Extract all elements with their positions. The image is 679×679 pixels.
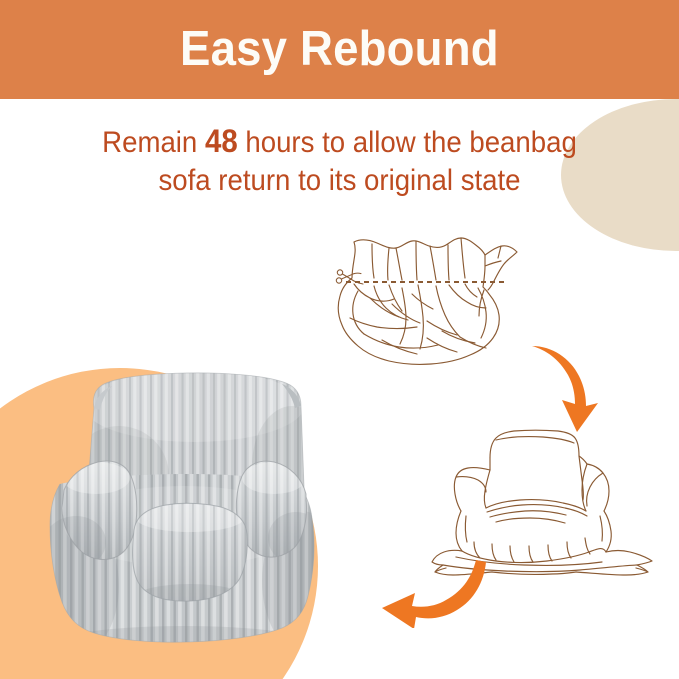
subtitle-block: Remain 48 hours to allow the beanbag sof… bbox=[0, 122, 679, 200]
compressed-bag-illustration bbox=[332, 228, 532, 376]
subtitle-line-1: Remain 48 hours to allow the beanbag bbox=[27, 122, 652, 162]
arrow-down-icon bbox=[528, 340, 608, 436]
subtitle-text-before: Remain bbox=[102, 126, 205, 159]
beanbag-chair-photo bbox=[24, 366, 344, 658]
easy-rebound-infographic: Easy Rebound Remain 48 hours to allow th… bbox=[0, 0, 679, 679]
page-title: Easy Rebound bbox=[180, 25, 499, 74]
subtitle-line-2: sofa return to its original state bbox=[27, 162, 652, 200]
subtitle-text-after: hours to allow the beanbag bbox=[238, 126, 577, 159]
subtitle-hours-value: 48 bbox=[205, 123, 238, 159]
header-banner: Easy Rebound bbox=[0, 0, 679, 99]
arrow-left-icon bbox=[374, 556, 488, 628]
